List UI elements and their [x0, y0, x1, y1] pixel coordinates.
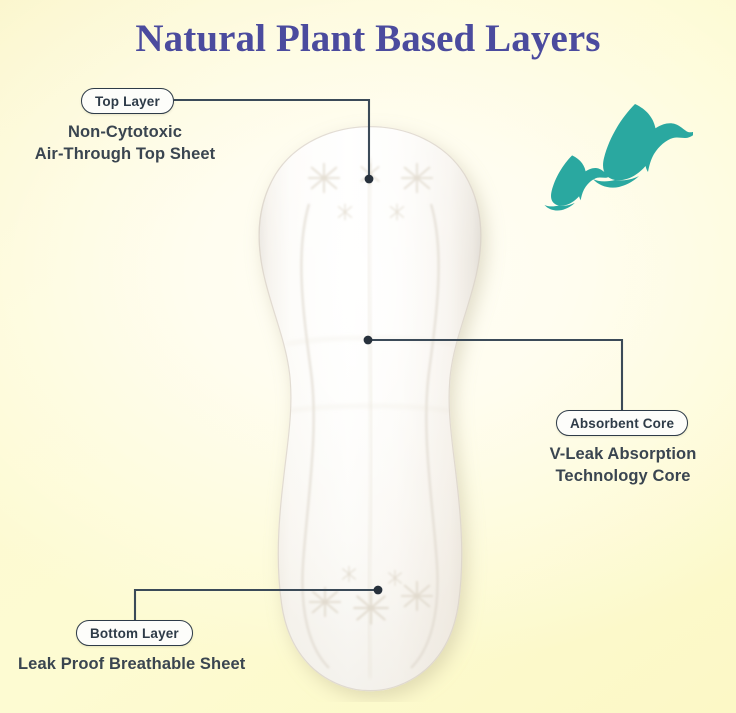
- callout-pill-top-layer[interactable]: Top Layer: [81, 88, 174, 114]
- two-flying-birds-icon: [543, 96, 693, 226]
- infographic-canvas: Natural Plant Based Layers: [0, 0, 736, 713]
- caption-line: Leak Proof Breathable Sheet: [18, 654, 318, 676]
- caption-line: Technology Core: [533, 466, 713, 488]
- callout-caption-bottom-layer: Leak Proof Breathable Sheet: [18, 654, 318, 676]
- callout-caption-top-layer: Non-Cytotoxic Air-Through Top Sheet: [22, 122, 228, 166]
- page-title: Natural Plant Based Layers: [0, 16, 736, 61]
- sanitary-pad-illustration: [225, 112, 515, 702]
- callout-caption-absorbent-core: V-Leak Absorption Technology Core: [533, 444, 713, 488]
- callout-pill-absorbent-core[interactable]: Absorbent Core: [556, 410, 688, 436]
- callout-pill-bottom-layer[interactable]: Bottom Layer: [76, 620, 193, 646]
- caption-line: Air-Through Top Sheet: [22, 144, 228, 166]
- caption-line: Non-Cytotoxic: [22, 122, 228, 144]
- caption-line: V-Leak Absorption: [533, 444, 713, 466]
